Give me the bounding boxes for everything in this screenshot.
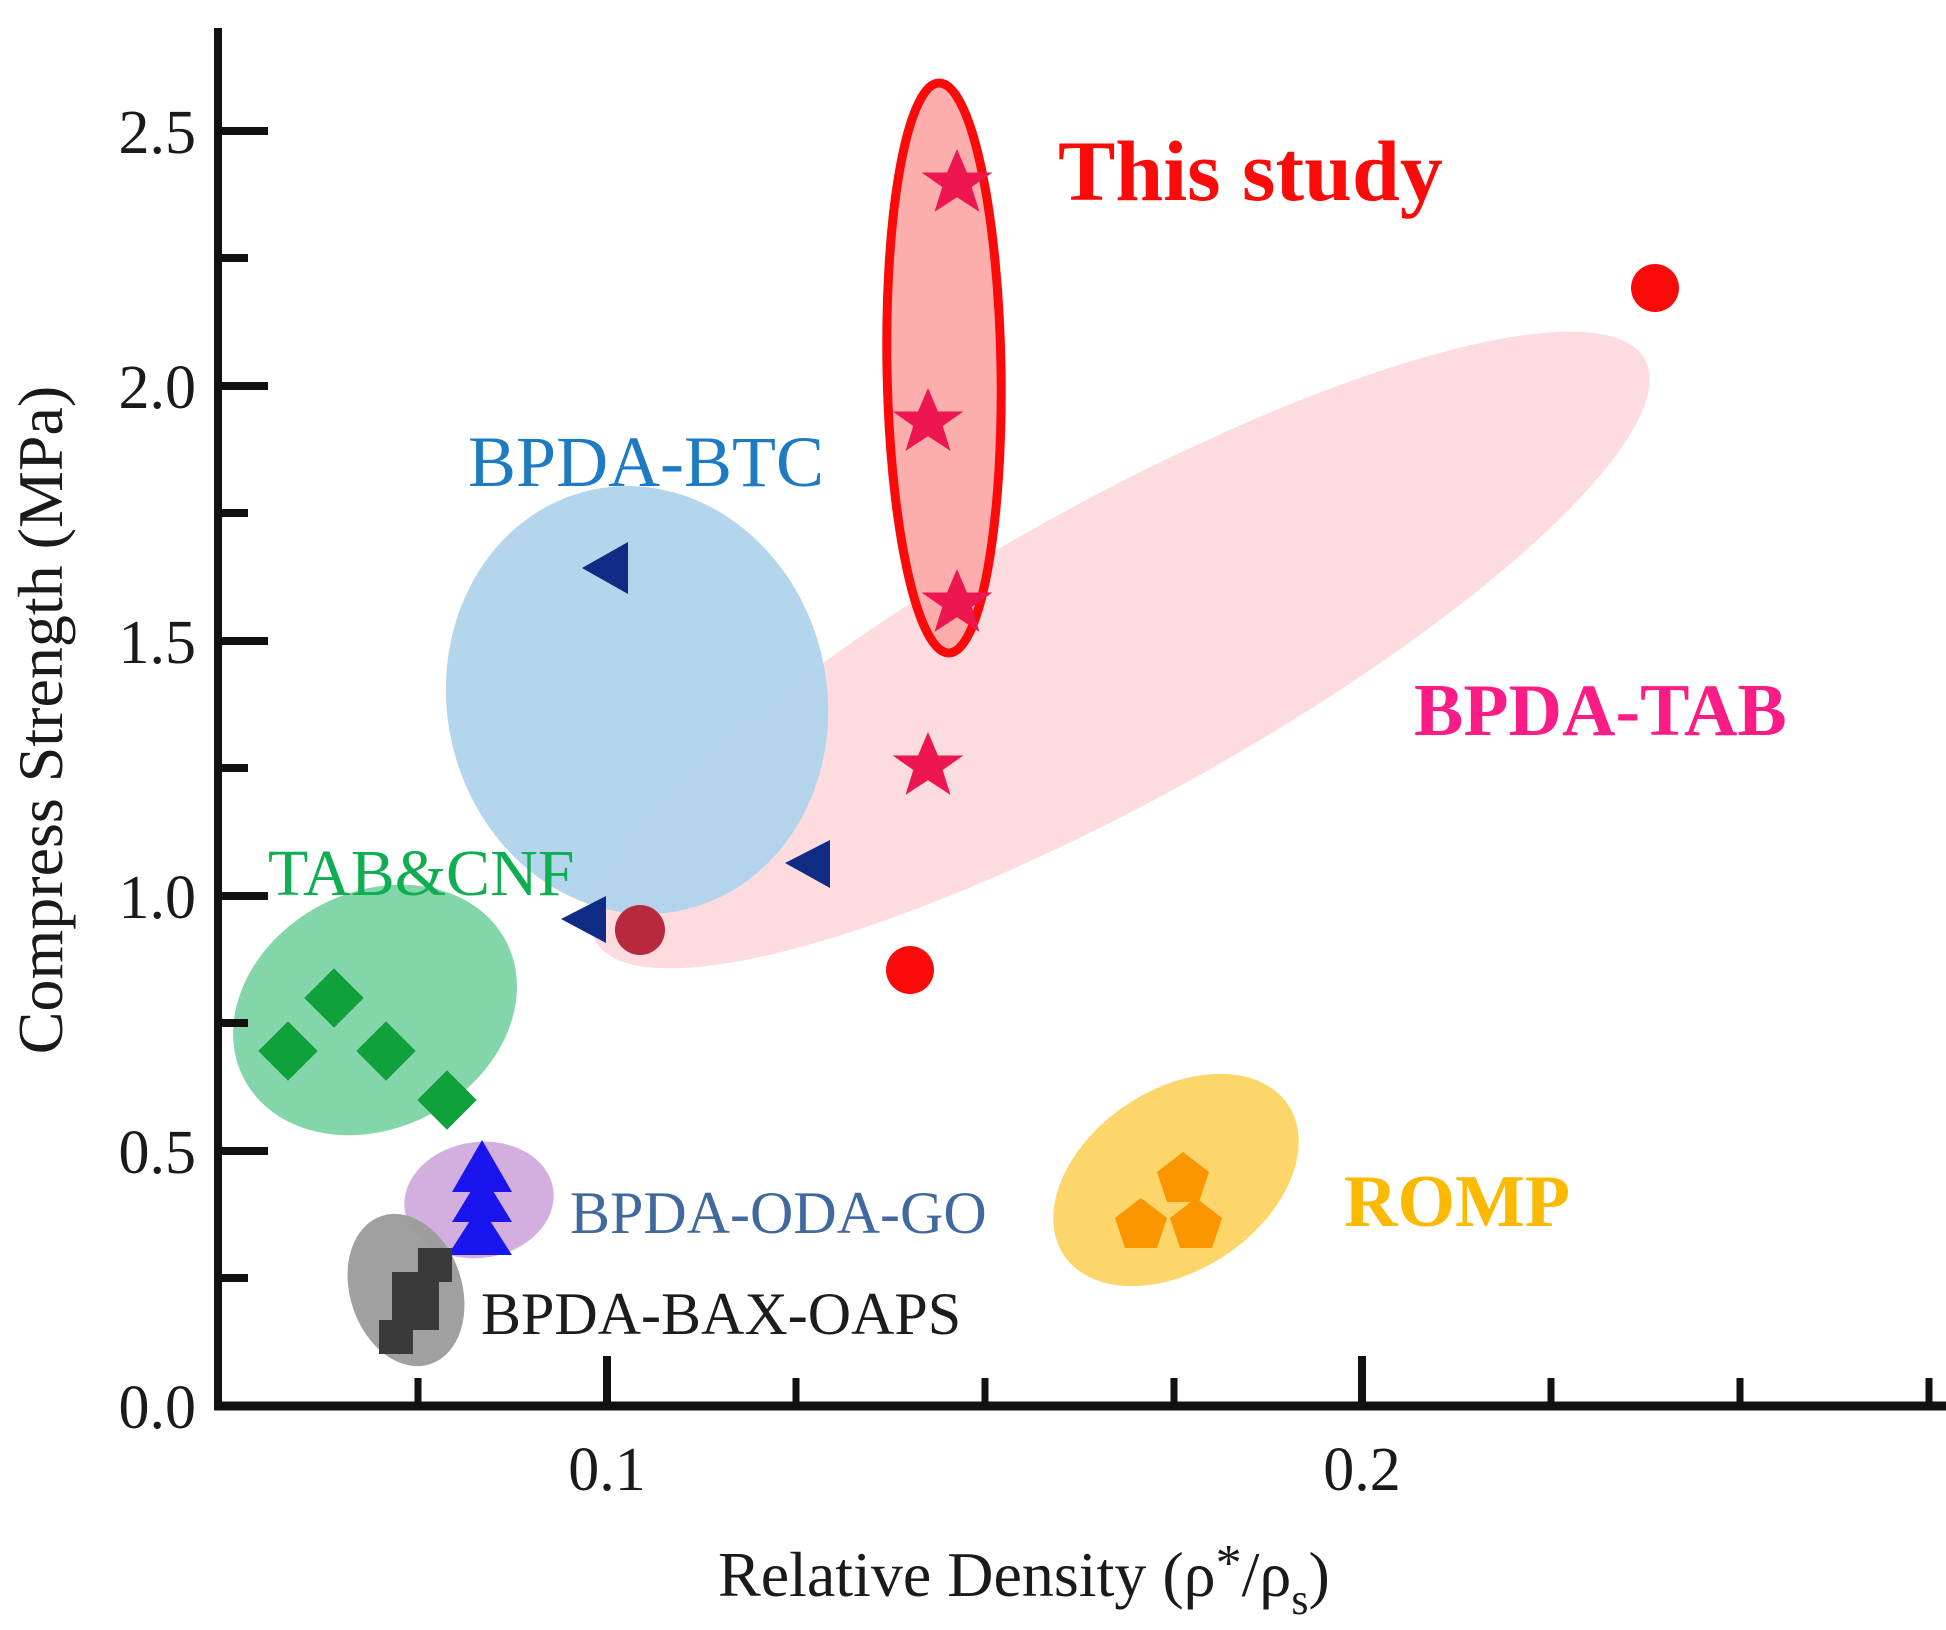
x-axis-title-rho1: ρ: [1184, 1539, 1216, 1610]
marker-circle: [886, 946, 934, 994]
svg-text:Relative Density (ρ*/ρs): Relative Density (ρ*/ρs): [718, 1535, 1330, 1624]
annotation-bpda-oda-go: BPDA-ODA-GO: [570, 1180, 987, 1246]
scatter-plot-canvas: 2.5 2.0 1.5 1.0 0.5 0.0 0.1 0.2 Compress…: [0, 0, 1946, 1630]
y-axis-title: Compress Strength (MPa): [5, 386, 76, 1054]
y-tick-label: 1.0: [119, 864, 197, 932]
annotation-bpda-btc: BPDA-BTC: [468, 422, 824, 502]
y-tick-label: 1.5: [119, 609, 197, 677]
y-tick-label: 2.5: [119, 99, 197, 167]
marker-circle: [1631, 264, 1679, 312]
marker-circle-dark-red: [615, 905, 665, 955]
x-axis-title-prefix: Relative Density (: [718, 1539, 1184, 1610]
y-tick-label: 0.0: [119, 1374, 197, 1442]
x-axis-title-rho2: ρ: [1259, 1539, 1291, 1610]
x-axis-title-suffix: ): [1308, 1539, 1329, 1610]
x-axis-title-star: *: [1216, 1535, 1242, 1592]
x-tick-label: 0.1: [568, 1436, 646, 1504]
x-tick-label: 0.2: [1323, 1436, 1401, 1504]
y-tick-label: 0.5: [119, 1119, 197, 1187]
x-axis-title-sub: s: [1291, 1575, 1308, 1624]
cluster-this-study: [882, 82, 1006, 654]
annotation-this-study: This study: [1058, 123, 1443, 219]
y-minor-ticks: [218, 258, 248, 1278]
annotation-romp: ROMP: [1344, 1161, 1570, 1243]
marker-square: [405, 1296, 439, 1330]
annotation-bpda-tab: BPDA-TAB: [1414, 670, 1787, 752]
x-axis-title-slash: /: [1242, 1539, 1260, 1610]
x-tick-labels: 0.1 0.2: [568, 1436, 1401, 1504]
y-tick-label: 2.0: [119, 354, 197, 422]
annotation-tab-cnf: TAB&CNF: [268, 837, 574, 910]
annotation-bpda-bax-oaps: BPDA-BAX-OAPS: [481, 1281, 961, 1347]
chart-figure: 2.5 2.0 1.5 1.0 0.5 0.0 0.1 0.2 Compress…: [0, 0, 1946, 1630]
x-axis-title: Relative Density (ρ*/ρs): [718, 1535, 1330, 1624]
y-tick-labels: 2.5 2.0 1.5 1.0 0.5 0.0: [119, 99, 197, 1442]
